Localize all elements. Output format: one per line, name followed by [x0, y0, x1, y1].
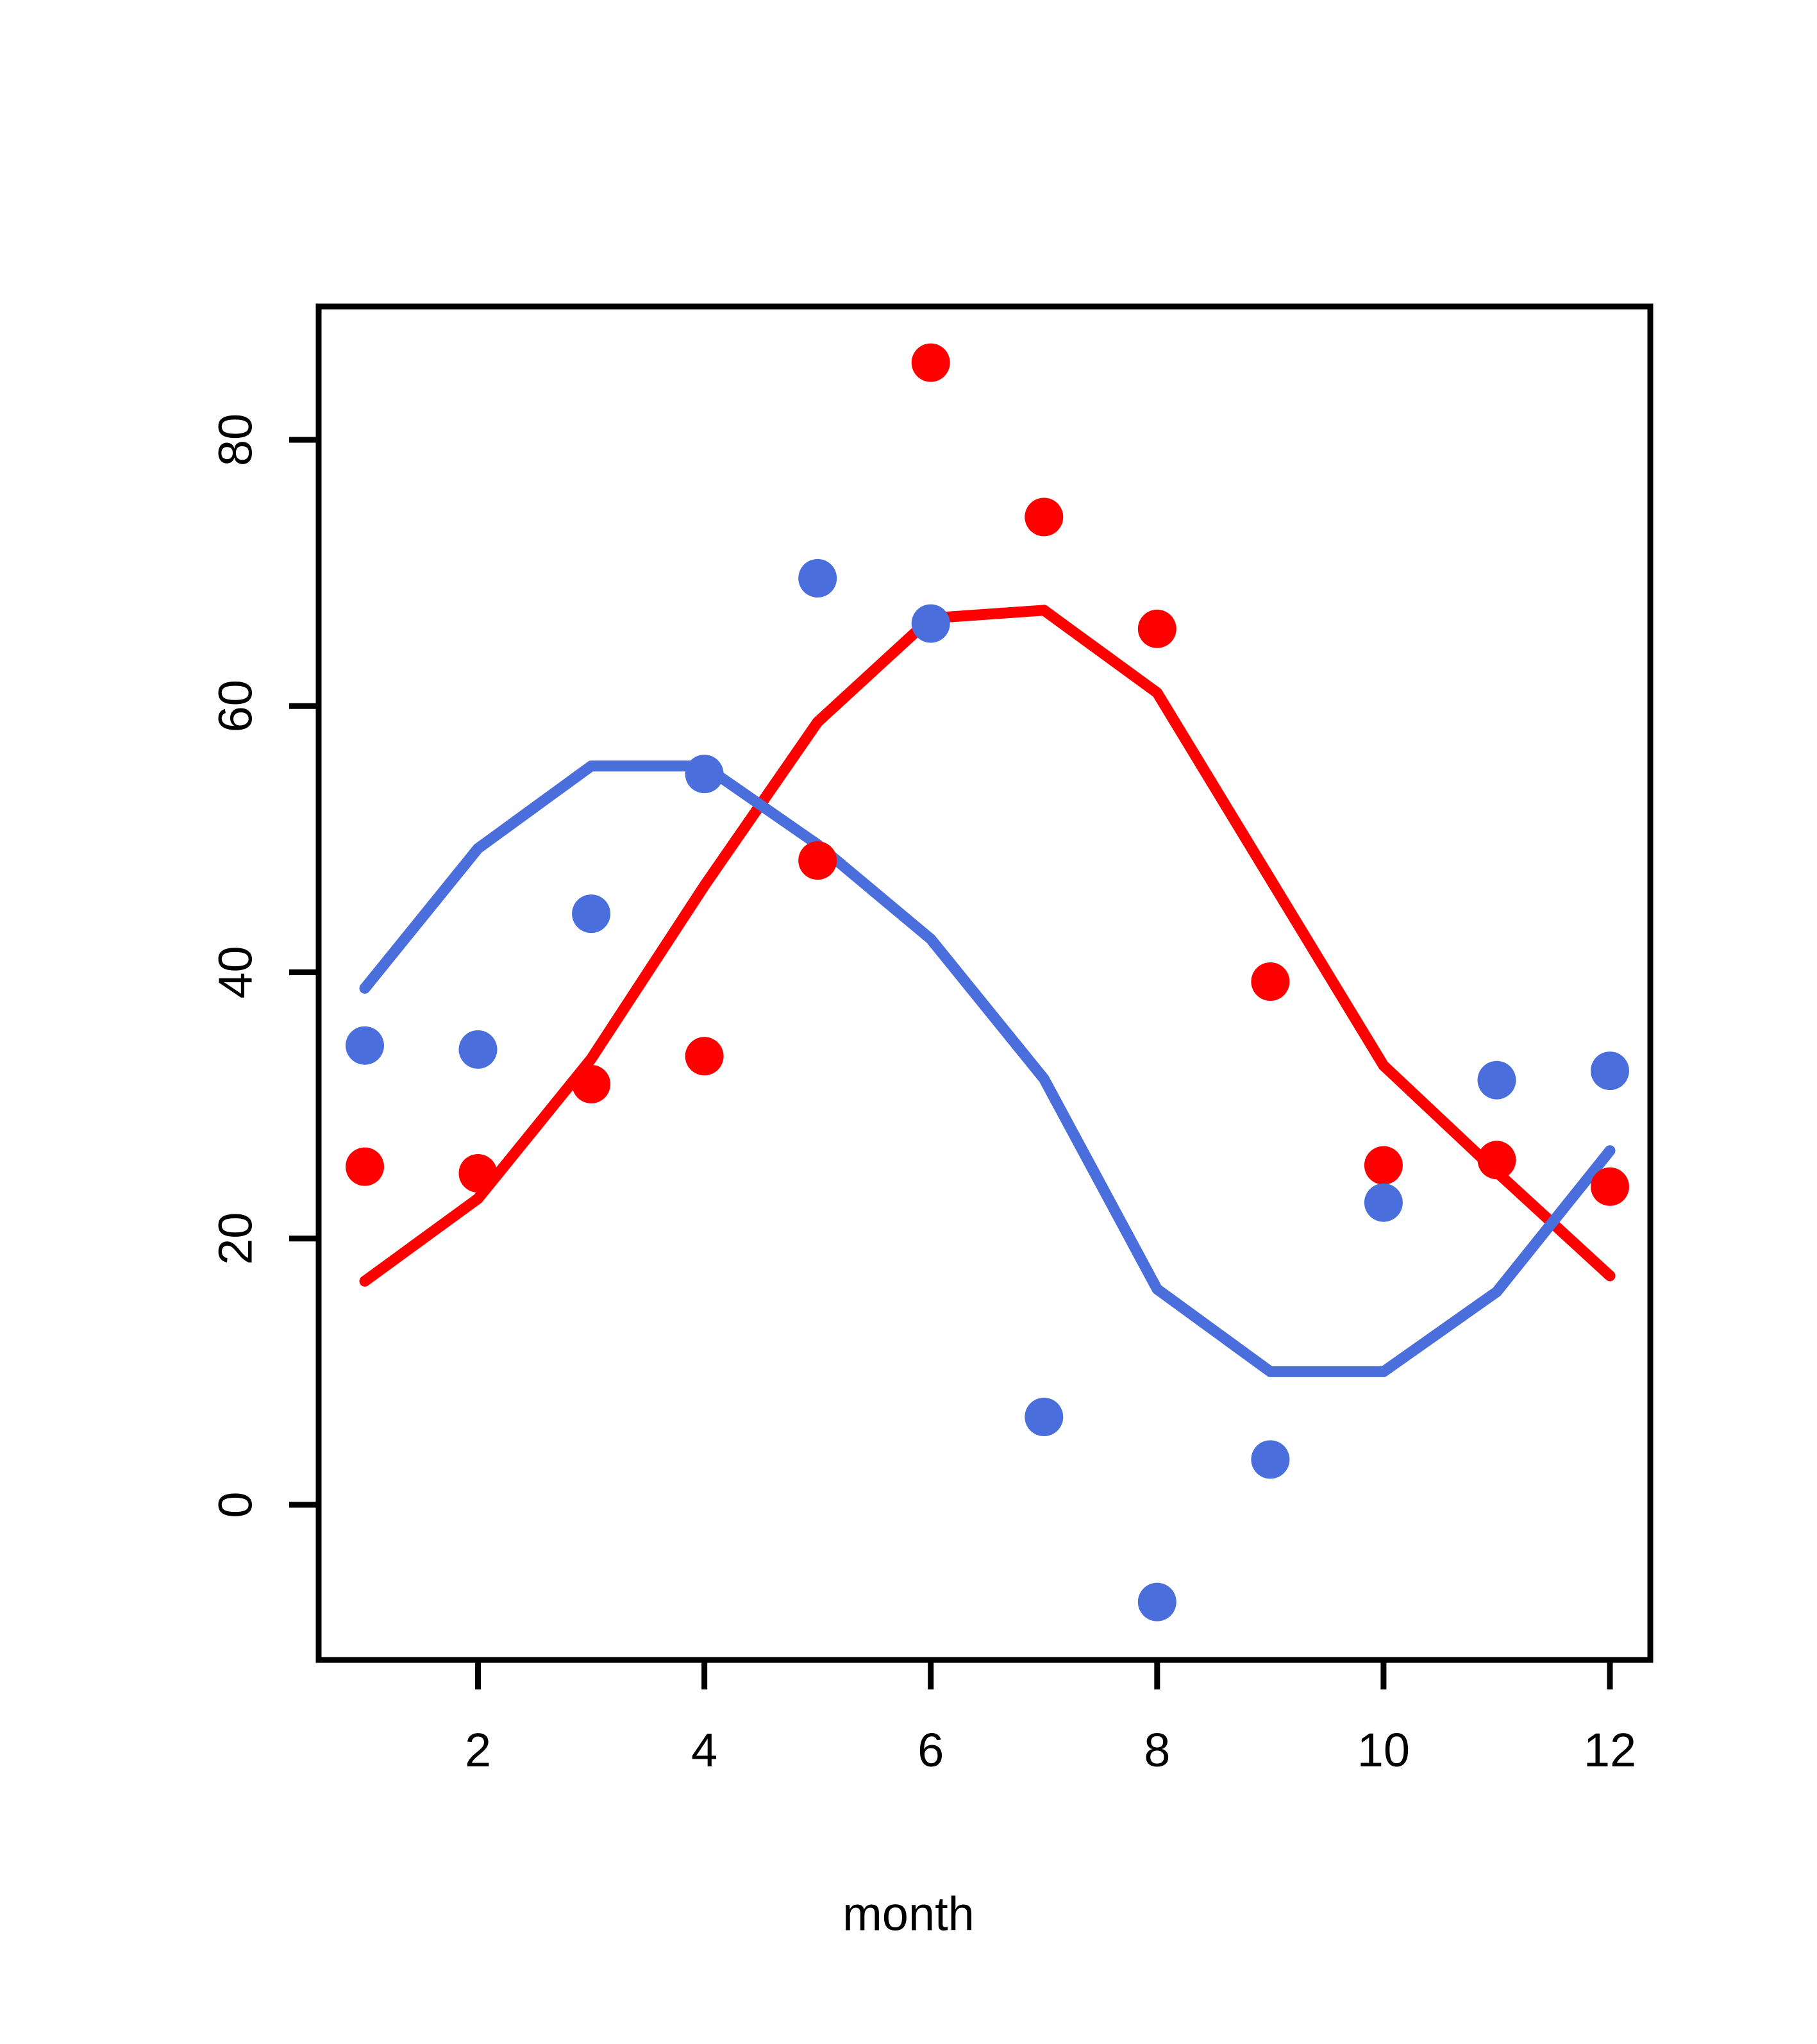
x-tick-label: 6	[917, 1723, 944, 1777]
red-points-marker	[912, 344, 950, 382]
blue-points-marker	[1364, 1184, 1403, 1222]
red-points-marker	[1138, 610, 1176, 648]
red-points-marker	[685, 1037, 724, 1075]
y-tick-label: 20	[209, 1212, 262, 1265]
y-tick-label: 60	[209, 680, 262, 732]
red-points-marker	[1478, 1141, 1516, 1179]
x-tick-label: 10	[1357, 1723, 1410, 1777]
red-points-marker	[1591, 1168, 1629, 1206]
x-tick-label: 8	[1144, 1723, 1170, 1777]
blue-points-marker	[1478, 1061, 1516, 1100]
x-tick-label: 12	[1584, 1723, 1636, 1777]
red-points-marker	[459, 1154, 498, 1193]
red-points-marker	[798, 841, 837, 880]
x-axis-title: month	[0, 1887, 1817, 1941]
blue-points-marker	[912, 605, 950, 643]
blue-points-marker	[1591, 1051, 1629, 1090]
blue-points-marker	[798, 559, 837, 598]
red-points-marker	[1251, 962, 1289, 1001]
y-tick-label: 80	[209, 414, 262, 466]
x-tick-label: 2	[465, 1723, 491, 1777]
chart-canvas: 24681012020406080	[0, 0, 1817, 2044]
red-points-marker	[346, 1148, 384, 1186]
x-tick-label: 4	[691, 1723, 717, 1777]
blue-points-marker	[1138, 1583, 1176, 1621]
blue-points-marker	[572, 894, 610, 933]
plot-root: GHCN-D_CA005022120_02_rr 246810120204060…	[0, 0, 1817, 2044]
red-points-marker	[1364, 1146, 1403, 1185]
blue-points-marker	[346, 1026, 384, 1065]
blue-points-marker	[1025, 1398, 1063, 1436]
blue-points-marker	[1251, 1440, 1289, 1479]
blue-points-marker	[459, 1030, 498, 1069]
red-points-marker	[1025, 498, 1063, 536]
y-tick-label: 0	[209, 1491, 262, 1518]
red-points-marker	[572, 1065, 610, 1103]
blue-points-marker	[685, 755, 724, 793]
y-tick-label: 40	[209, 946, 262, 998]
